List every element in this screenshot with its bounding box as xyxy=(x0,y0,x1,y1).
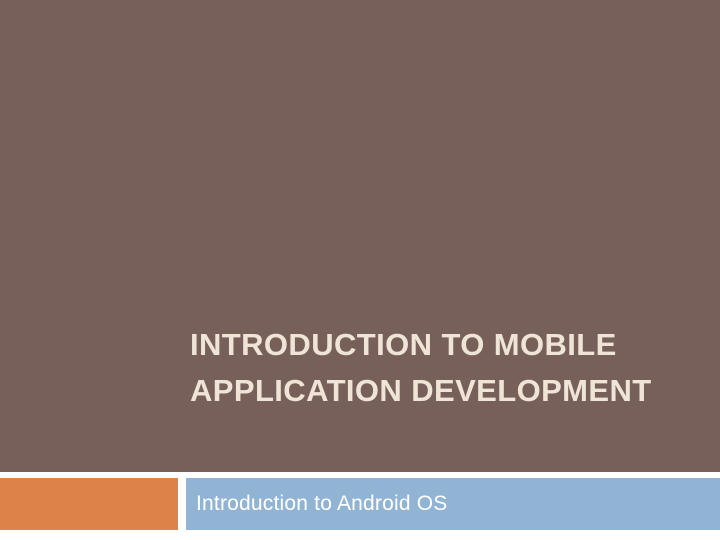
title-placeholder[interactable]: Introduction to Mobile Application Devel… xyxy=(190,322,690,414)
slide-subtitle: Introduction to Android OS xyxy=(196,478,448,530)
title-slide: Introduction to Mobile Application Devel… xyxy=(0,0,720,540)
accent-block-orange xyxy=(0,478,178,530)
subtitle-bar[interactable]: Introduction to Android OS xyxy=(186,478,720,530)
slide-title: Introduction to Mobile Application Devel… xyxy=(190,322,690,414)
